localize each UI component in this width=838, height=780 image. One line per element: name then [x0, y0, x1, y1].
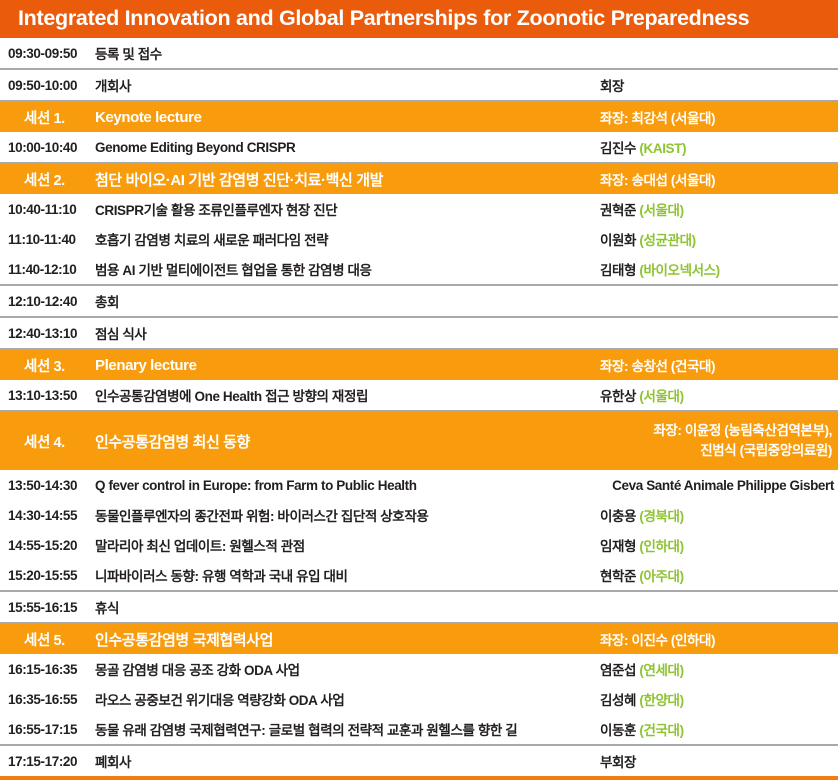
schedule-row: 16:15-16:35몽골 감염병 대응 공조 강화 ODA 사업염준섭 (연세…	[0, 654, 838, 684]
row-title: 등록 및 접수	[95, 43, 600, 63]
speaker-name: 염준섭	[600, 663, 636, 678]
schedule-row: 09:30-09:50등록 및 접수	[0, 38, 838, 68]
schedule-row: 12:10-12:40총회	[0, 286, 838, 316]
row-speaker: 김성혜 (한양대)	[600, 689, 838, 709]
schedule-row: 16:55-17:15동물 유래 감염병 국제협력연구: 글로벌 협력의 전략적…	[0, 714, 838, 744]
session-title: 첨단 바이오·AI 기반 감염병 진단·치료·백신 개발	[95, 169, 600, 190]
session-chair: 좌장: 송창선 (건국대)	[600, 355, 838, 375]
row-speaker: 임재형 (인하대)	[600, 535, 838, 555]
speaker-affiliation: (성균관대)	[636, 233, 696, 248]
row-title: 폐회사	[95, 751, 600, 771]
row-speaker: 이충용 (경북대)	[600, 505, 838, 525]
session-number: 세션 3.	[0, 355, 95, 376]
row-title: 인수공통감염병에 One Health 접근 방향의 재정립	[95, 385, 600, 405]
row-speaker: 부회장	[600, 751, 838, 771]
session-number: 세션 2.	[0, 169, 95, 190]
speaker-affiliation: (경북대)	[636, 509, 684, 524]
speaker-name: 현학준	[600, 569, 636, 584]
row-time: 10:40-11:10	[0, 202, 95, 217]
session-title: 인수공통감염병 최신 동향	[95, 431, 600, 452]
schedule-row: 15:20-15:55니파바이러스 동향: 유행 역학과 국내 유입 대비현학준…	[0, 560, 838, 590]
row-time: 14:30-14:55	[0, 508, 95, 523]
row-title: 동물인플루엔자의 종간전파 위험: 바이러스간 집단적 상호작용	[95, 505, 600, 525]
session-chair: 좌장: 송대섭 (서울대)	[600, 169, 838, 189]
session-chair: 좌장: 최강석 (서울대)	[600, 107, 838, 127]
program-schedule-page: Integrated Innovation and Global Partner…	[0, 0, 838, 763]
row-title: 니파바이러스 동향: 유행 역학과 국내 유입 대비	[95, 565, 600, 585]
row-time: 12:10-12:40	[0, 294, 95, 309]
speaker-affiliation: (한양대)	[636, 693, 684, 708]
session-chair: 좌장: 이윤정 (농림축산검역본부), 진범식 (국립중앙의료원)	[600, 421, 838, 460]
session-header-row: 세션 5.인수공통감염병 국제협력사업좌장: 이진수 (인하대)	[0, 624, 838, 654]
speaker-name: 회장	[600, 79, 624, 94]
row-title: Genome Editing Beyond CRISPR	[95, 140, 600, 155]
row-speaker: 김진수 (KAIST)	[600, 137, 838, 157]
row-title: 휴식	[95, 597, 600, 617]
row-speaker: 이동훈 (건국대)	[600, 719, 838, 739]
row-time: 10:00-10:40	[0, 140, 95, 155]
schedule-row: 16:35-16:55라오스 공중보건 위기대응 역량강화 ODA 사업김성혜 …	[0, 684, 838, 714]
session-header-row: 세션 3.Plenary lecture좌장: 송창선 (건국대)	[0, 350, 838, 380]
row-time: 16:55-17:15	[0, 722, 95, 737]
schedule-row: 17:15-17:20폐회사부회장	[0, 746, 838, 776]
session-number: 세션 5.	[0, 629, 95, 650]
row-time: 15:20-15:55	[0, 568, 95, 583]
session-title: Plenary lecture	[95, 357, 600, 374]
row-title: CRISPR기술 활용 조류인플루엔자 현장 진단	[95, 199, 600, 219]
row-speaker: 권혁준 (서울대)	[600, 199, 838, 219]
speaker-name: Ceva Santé Animale Philippe Gisbert	[612, 478, 834, 493]
speaker-affiliation: (인하대)	[636, 539, 684, 554]
schedule-row: 09:50-10:00개회사회장	[0, 70, 838, 100]
speaker-name: 권혁준	[600, 203, 636, 218]
speaker-name: 김진수	[600, 141, 636, 156]
schedule-row: 14:55-15:20말라리아 최신 업데이트: 원헬스적 관점임재형 (인하대…	[0, 530, 838, 560]
speaker-name: 이동훈	[600, 723, 636, 738]
page-title: Integrated Innovation and Global Partner…	[18, 8, 749, 30]
row-time: 11:10-11:40	[0, 232, 95, 247]
speaker-affiliation: (건국대)	[636, 723, 684, 738]
schedule-row: 10:40-11:10CRISPR기술 활용 조류인플루엔자 현장 진단권혁준 …	[0, 194, 838, 224]
row-time: 13:10-13:50	[0, 388, 95, 403]
schedule-row: 11:10-11:40호흡기 감염병 치료의 새로운 패러다임 전략이원화 (성…	[0, 224, 838, 254]
speaker-name: 이원화	[600, 233, 636, 248]
schedule-row: 14:30-14:55동물인플루엔자의 종간전파 위험: 바이러스간 집단적 상…	[0, 500, 838, 530]
session-header-row: 세션 4.인수공통감염병 최신 동향좌장: 이윤정 (농림축산검역본부), 진범…	[0, 412, 838, 470]
row-title: 라오스 공중보건 위기대응 역량강화 ODA 사업	[95, 689, 600, 709]
session-number: 세션 1.	[0, 107, 95, 128]
row-title: 호흡기 감염병 치료의 새로운 패러다임 전략	[95, 229, 600, 249]
row-time: 16:15-16:35	[0, 662, 95, 677]
speaker-affiliation: (아주대)	[636, 569, 684, 584]
row-time: 15:55-16:15	[0, 600, 95, 615]
row-time: 16:35-16:55	[0, 692, 95, 707]
row-title: Q fever control in Europe: from Farm to …	[95, 478, 600, 493]
row-speaker: 현학준 (아주대)	[600, 565, 838, 585]
row-title: 총회	[95, 291, 600, 311]
session-header-row: 세션 2.첨단 바이오·AI 기반 감염병 진단·치료·백신 개발좌장: 송대섭…	[0, 164, 838, 194]
speaker-name: 김태형	[600, 263, 636, 278]
row-title: 개회사	[95, 75, 600, 95]
row-speaker: 김태형 (바이오넥서스)	[600, 259, 838, 279]
row-time: 17:15-17:20	[0, 754, 95, 769]
row-title: 동물 유래 감염병 국제협력연구: 글로벌 협력의 전략적 교훈과 원헬스를 향…	[95, 719, 600, 739]
row-speaker: Ceva Santé Animale Philippe Gisbert	[600, 478, 838, 493]
schedule-row: 13:50-14:30Q fever control in Europe: fr…	[0, 470, 838, 500]
row-time: 14:55-15:20	[0, 538, 95, 553]
session-chair: 좌장: 이진수 (인하대)	[600, 629, 838, 649]
schedule-row: 15:55-16:15휴식	[0, 592, 838, 622]
row-speaker: 염준섭 (연세대)	[600, 659, 838, 679]
speaker-name: 김성혜	[600, 693, 636, 708]
row-title: 몽골 감염병 대응 공조 강화 ODA 사업	[95, 659, 600, 679]
row-title: 점심 식사	[95, 323, 600, 343]
schedule-row: 12:40-13:10점심 식사	[0, 318, 838, 348]
row-time: 09:30-09:50	[0, 46, 95, 61]
session-header-row: 세션 1.Keynote lecture좌장: 최강석 (서울대)	[0, 102, 838, 132]
schedule-row: 13:10-13:50인수공통감염병에 One Health 접근 방향의 재정…	[0, 380, 838, 410]
row-time: 13:50-14:30	[0, 478, 95, 493]
speaker-affiliation: (연세대)	[636, 663, 684, 678]
schedule-row: 11:40-12:10범용 AI 기반 멀티에이전트 협업을 통한 감염병 대응…	[0, 254, 838, 284]
speaker-affiliation: (바이오넥서스)	[636, 263, 720, 278]
row-title: 말라리아 최신 업데이트: 원헬스적 관점	[95, 535, 600, 555]
bottom-accent-bar	[0, 776, 838, 780]
row-title: 범용 AI 기반 멀티에이전트 협업을 통한 감염병 대응	[95, 259, 600, 279]
page-header-banner: Integrated Innovation and Global Partner…	[0, 0, 838, 38]
session-title: Keynote lecture	[95, 109, 600, 126]
row-speaker: 이원화 (성균관대)	[600, 229, 838, 249]
session-number: 세션 4.	[0, 431, 95, 452]
speaker-name: 임재형	[600, 539, 636, 554]
row-time: 11:40-12:10	[0, 262, 95, 277]
session-title: 인수공통감염병 국제협력사업	[95, 629, 600, 650]
speaker-name: 이충용	[600, 509, 636, 524]
row-time: 09:50-10:00	[0, 78, 95, 93]
speaker-affiliation: (서울대)	[636, 389, 684, 404]
row-speaker: 유한상 (서울대)	[600, 385, 838, 405]
speaker-affiliation: (KAIST)	[636, 141, 686, 156]
speaker-affiliation: (서울대)	[636, 203, 684, 218]
schedule-table: 09:30-09:50등록 및 접수09:50-10:00개회사회장세션 1.K…	[0, 38, 838, 776]
row-speaker: 회장	[600, 75, 838, 95]
row-time: 12:40-13:10	[0, 326, 95, 341]
schedule-row: 10:00-10:40Genome Editing Beyond CRISPR김…	[0, 132, 838, 162]
speaker-name: 유한상	[600, 389, 636, 404]
